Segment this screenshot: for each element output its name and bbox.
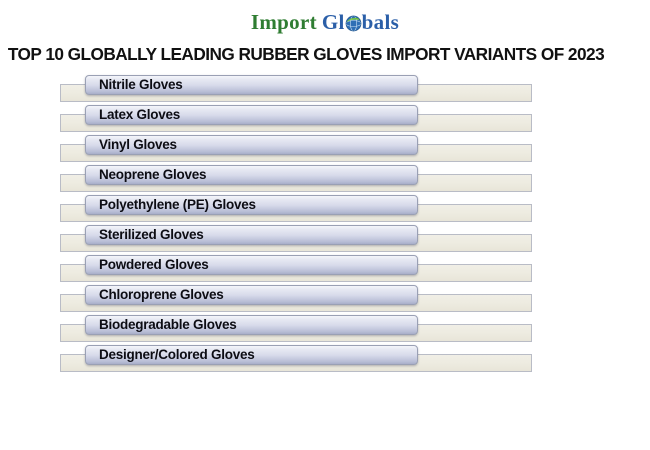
bar-label: Chloroprene Gloves xyxy=(86,288,224,302)
logo-text-import: Import xyxy=(251,12,317,33)
bar-row: Latex Gloves xyxy=(0,103,650,133)
brand-logo-area: Import Gl bals xyxy=(0,0,650,44)
bar-label: Biodegradable Gloves xyxy=(86,318,237,332)
bar-row: Chloroprene Gloves xyxy=(0,283,650,313)
logo-text-gl: Gl xyxy=(322,12,345,33)
bar-fill[interactable]: Powdered Gloves xyxy=(85,255,418,275)
bar-fill[interactable]: Sterilized Gloves xyxy=(85,225,418,245)
bar-fill[interactable]: Biodegradable Gloves xyxy=(85,315,418,335)
bar-fill[interactable]: Vinyl Gloves xyxy=(85,135,418,155)
bar-label: Nitrile Gloves xyxy=(86,78,183,92)
page-title: TOP 10 GLOBALLY LEADING RUBBER GLOVES IM… xyxy=(0,44,640,64)
bar-row: Powdered Gloves xyxy=(0,253,650,283)
bar-fill[interactable]: Latex Gloves xyxy=(85,105,418,125)
bar-label: Polyethylene (PE) Gloves xyxy=(86,198,256,212)
bar-fill[interactable]: Nitrile Gloves xyxy=(85,75,418,95)
bar-row: Biodegradable Gloves xyxy=(0,313,650,343)
bar-fill[interactable]: Designer/Colored Gloves xyxy=(85,345,418,365)
bar-row: Sterilized Gloves xyxy=(0,223,650,253)
bar-label: Designer/Colored Gloves xyxy=(86,348,255,362)
bar-row: Vinyl Gloves xyxy=(0,133,650,163)
bar-row: Polyethylene (PE) Gloves xyxy=(0,193,650,223)
bar-fill[interactable]: Chloroprene Gloves xyxy=(85,285,418,305)
bar-row: Nitrile Gloves xyxy=(0,73,650,103)
logo-text-bals: bals xyxy=(362,12,399,33)
bar-row: Neoprene Gloves xyxy=(0,163,650,193)
horizontal-bar-chart: Nitrile Gloves Latex Gloves Vinyl Gloves… xyxy=(0,73,650,378)
globe-icon xyxy=(345,15,362,32)
bar-row: Designer/Colored Gloves xyxy=(0,343,650,373)
bar-label: Latex Gloves xyxy=(86,108,180,122)
import-globals-logo: Import Gl bals xyxy=(251,12,399,33)
bar-label: Sterilized Gloves xyxy=(86,228,204,242)
bar-fill[interactable]: Polyethylene (PE) Gloves xyxy=(85,195,418,215)
bar-label: Powdered Gloves xyxy=(86,258,209,272)
bar-label: Vinyl Gloves xyxy=(86,138,177,152)
bar-fill[interactable]: Neoprene Gloves xyxy=(85,165,418,185)
bar-label: Neoprene Gloves xyxy=(86,168,206,182)
